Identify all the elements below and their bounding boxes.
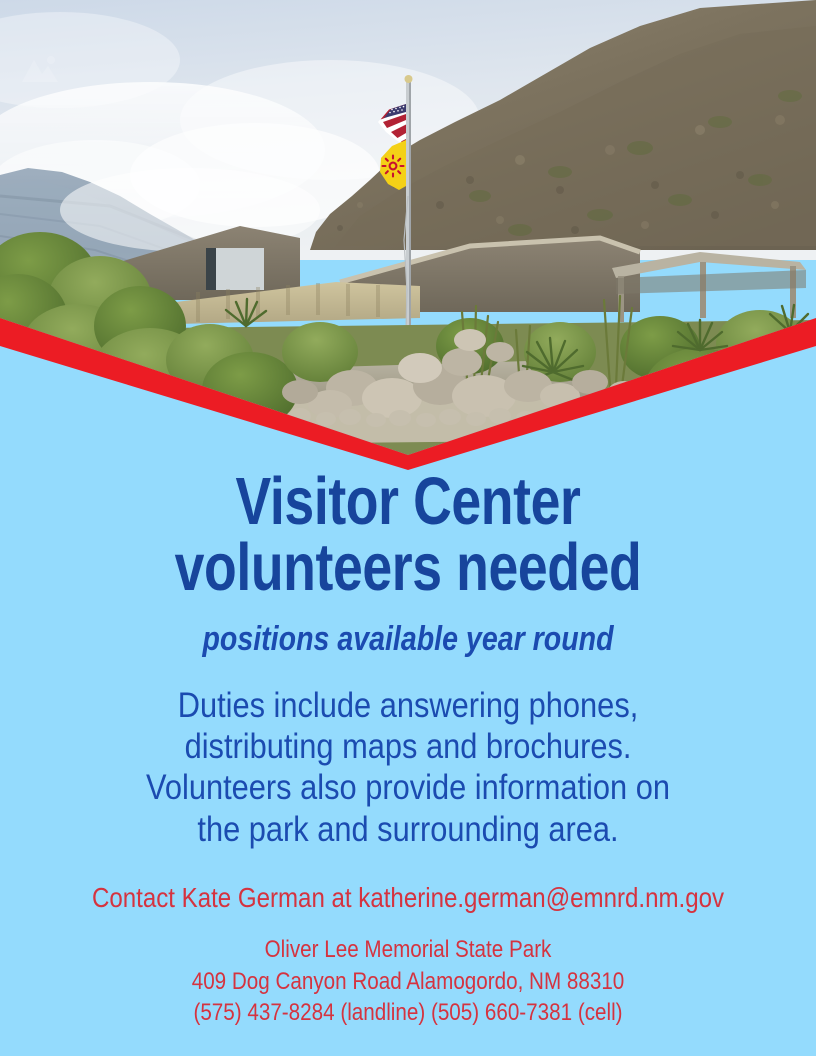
- shade-ramada: [612, 252, 806, 322]
- contact-line[interactable]: Contact Kate German at katherine.german@…: [57, 882, 759, 914]
- page-title: Visitor Center volunteers needed: [82, 455, 735, 602]
- street-address: 409 Dog Canyon Road Alamogordo, NM 88310: [57, 966, 759, 998]
- address-block: Oliver Lee Memorial State Park 409 Dog C…: [57, 934, 759, 1029]
- phone-numbers[interactable]: (575) 437-8284 (landline) (505) 660-7381…: [57, 997, 759, 1029]
- headline-line-1: Visitor Center: [236, 464, 581, 539]
- body-copy: Duties include answering phones, distrib…: [49, 685, 767, 850]
- headline-line-2: volunteers needed: [175, 530, 642, 605]
- body-line-4: the park and surrounding area.: [197, 810, 618, 849]
- body-line-2: distributing maps and brochures.: [185, 727, 632, 766]
- body-line-1: Duties include answering phones,: [178, 686, 639, 725]
- flyer-content: Visitor Center volunteers needed positio…: [0, 455, 816, 1029]
- hero-photo-illustration: [0, 0, 816, 460]
- flyer-page: Visitor Center volunteers needed positio…: [0, 0, 816, 1056]
- park-logo-watermark: [18, 52, 62, 86]
- building-door: [206, 248, 216, 290]
- body-line-3: Volunteers also provide information on: [146, 768, 670, 807]
- subtitle: positions available year round: [65, 620, 750, 659]
- park-name: Oliver Lee Memorial State Park: [57, 934, 759, 966]
- hero-photo: [0, 0, 816, 460]
- flagpole-finial: [405, 75, 413, 83]
